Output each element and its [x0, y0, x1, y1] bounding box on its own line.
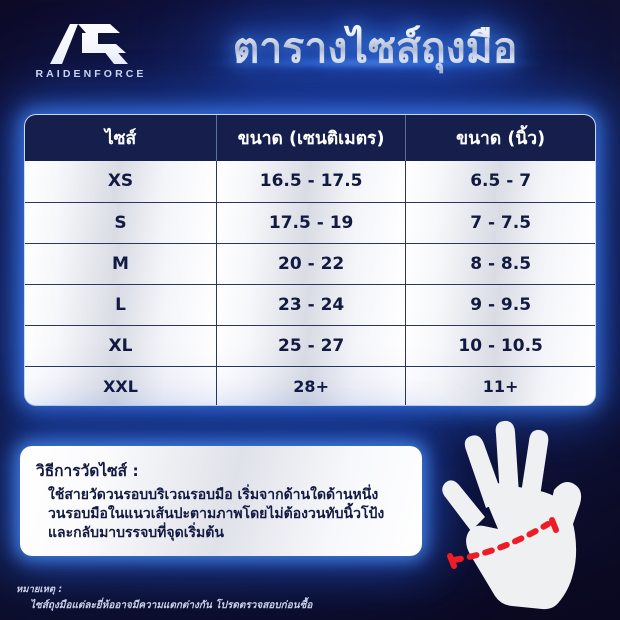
table-row: S 17.5 - 19 7 - 7.5 — [25, 202, 595, 243]
table-row: L 23 - 24 9 - 9.5 — [25, 284, 595, 325]
page-title-wrap: ตารางไซส์ถุงมือ — [150, 12, 600, 88]
cell-size: XL — [25, 325, 217, 366]
table-row: XXL 28+ 11+ — [25, 366, 595, 406]
instruction-body: ใช้สายวัดวนรอบบริเวณรอบมือ เริ่มจากด้านใ… — [48, 486, 408, 543]
cell-size: S — [25, 202, 217, 243]
raidenforce-r-monogram-icon — [48, 22, 140, 66]
column-header-cm: ขนาด (เซนติเมตร) — [217, 115, 406, 161]
header: RAIDENFORCE ตารางไซส์ถุงมือ — [0, 0, 620, 100]
hand-glove-measure-diagram-icon — [428, 420, 614, 610]
column-header-size: ไซส์ — [25, 115, 217, 161]
cell-inch: 9 - 9.5 — [406, 284, 595, 325]
brand-wordmark: RAIDENFORCE — [26, 68, 156, 80]
table-row: XS 16.5 - 17.5 6.5 - 7 — [25, 161, 595, 202]
cell-inch: 11+ — [406, 366, 595, 406]
instruction-card: วิธีการวัดไซส์ : ใช้สายวัดวนรอบบริเวณรอบ… — [20, 446, 422, 556]
instruction-line-1: ใช้สายวัดวนรอบบริเวณรอบมือ เริ่มจากด้านใ… — [48, 486, 408, 505]
table-header-row: ไซส์ ขนาด (เซนติเมตร) ขนาด (นิ้ว) — [25, 115, 595, 161]
cell-inch: 6.5 - 7 — [406, 161, 595, 202]
table-header: ไซส์ ขนาด (เซนติเมตร) ขนาด (นิ้ว) — [25, 115, 595, 161]
brand-logo: RAIDENFORCE — [26, 22, 156, 84]
cell-size: L — [25, 284, 217, 325]
instruction-line-2: วนรอบมือในแนวเส้นปะตามภาพโดยไม่ต้องวนทับ… — [48, 505, 408, 524]
cell-cm: 17.5 - 19 — [217, 202, 406, 243]
instruction-line-3: และกลับมาบรรจบที่จุดเริ่มต้น — [48, 524, 408, 543]
page-title: ตารางไซส์ถุงมือ — [150, 12, 600, 84]
cell-inch: 7 - 7.5 — [406, 202, 595, 243]
footer-note-body: ไซส์ถุงมือแต่ละยี่ห้ออาจมีความแตกต่างกัน… — [30, 598, 432, 613]
cell-cm: 28+ — [217, 366, 406, 406]
table-row: XL 25 - 27 10 - 10.5 — [25, 325, 595, 366]
cell-cm: 20 - 22 — [217, 243, 406, 284]
table-row: M 20 - 22 8 - 8.5 — [25, 243, 595, 284]
cell-size: M — [25, 243, 217, 284]
column-header-inch: ขนาด (นิ้ว) — [406, 115, 595, 161]
cell-size: XS — [25, 161, 217, 202]
cell-cm: 16.5 - 17.5 — [217, 161, 406, 202]
footer-note-title: หมายเหตุ : — [16, 582, 432, 597]
cell-cm: 25 - 27 — [217, 325, 406, 366]
footer-note: หมายเหตุ : ไซส์ถุงมือแต่ละยี่ห้ออาจมีควา… — [12, 582, 432, 613]
size-table: ไซส์ ขนาด (เซนติเมตร) ขนาด (นิ้ว) XS 16.… — [25, 115, 595, 406]
cell-inch: 8 - 8.5 — [406, 243, 595, 284]
cell-size: XXL — [25, 366, 217, 406]
cell-cm: 23 - 24 — [217, 284, 406, 325]
cell-inch: 10 - 10.5 — [406, 325, 595, 366]
table-body: XS 16.5 - 17.5 6.5 - 7 S 17.5 - 19 7 - 7… — [25, 161, 595, 406]
instruction-title: วิธีการวัดไซส์ : — [36, 458, 408, 483]
size-chart-poster: RAIDENFORCE ตารางไซส์ถุงมือ ไซส์ ขนาด (เ… — [0, 0, 620, 620]
size-table-container: ไซส์ ขนาด (เซนติเมตร) ขนาด (นิ้ว) XS 16.… — [24, 114, 596, 406]
